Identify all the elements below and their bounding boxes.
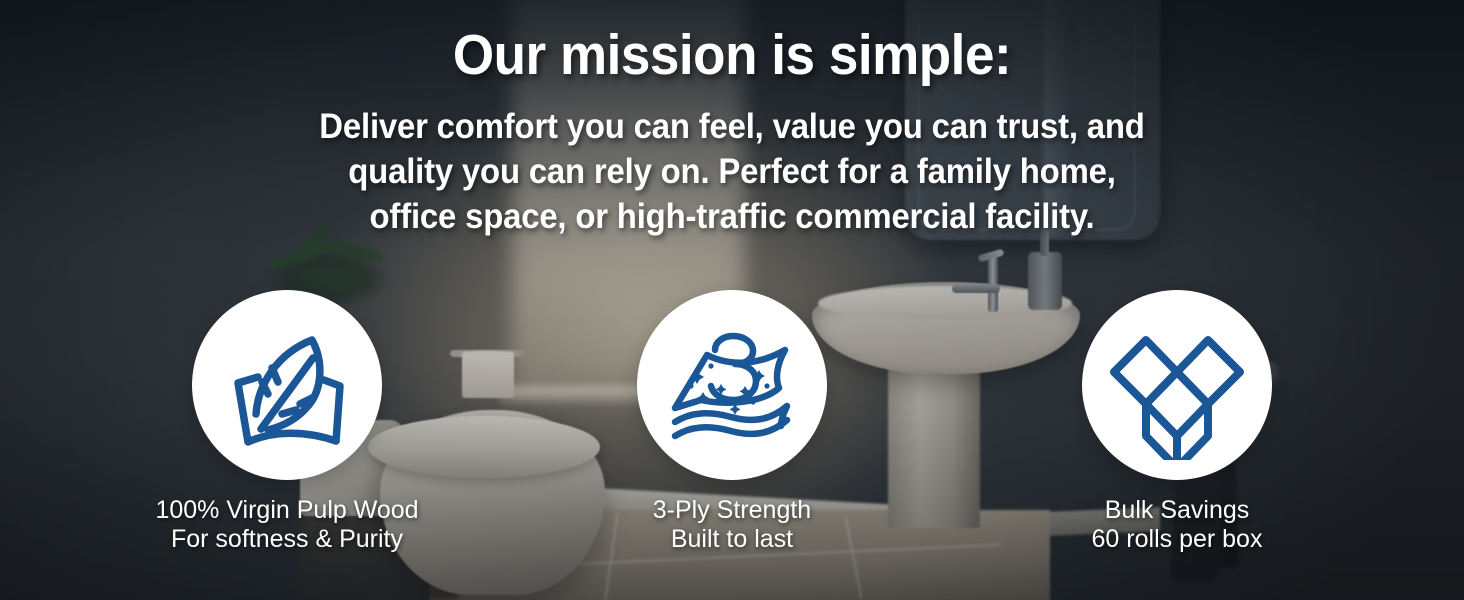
- feature-title: Bulk Savings: [1092, 496, 1263, 525]
- mission-statement: Deliver comfort you can feel, value you …: [44, 104, 1420, 239]
- feature-list: 100% Virgin Pulp Wood For softness & Pur…: [0, 290, 1464, 554]
- feature-title: 100% Virgin Pulp Wood: [155, 496, 418, 525]
- feature-caption: Bulk Savings 60 rolls per box: [1092, 496, 1263, 554]
- mission-line-1: Deliver comfort you can feel, value you …: [44, 104, 1420, 149]
- feather-on-tissue-icon: [212, 310, 362, 460]
- feature-icon-circle: [637, 290, 827, 480]
- feature-title: 3-Ply Strength: [653, 496, 811, 525]
- open-box-icon: [1102, 310, 1252, 460]
- mission-line-3: office space, or high-traffic commercial…: [44, 194, 1420, 239]
- feature-item-three-ply: 3-Ply Strength Built to last: [617, 290, 847, 554]
- feature-subtitle: Built to last: [653, 525, 811, 554]
- feature-item-virgin-pulp: 100% Virgin Pulp Wood For softness & Pur…: [172, 290, 402, 554]
- mission-line-2: quality you can rely on. Perfect for a f…: [44, 149, 1420, 194]
- feature-icon-circle: [1082, 290, 1272, 480]
- three-ply-sheets-icon: [657, 310, 807, 460]
- mission-banner: Our mission is simple: Deliver comfort y…: [0, 0, 1464, 600]
- feature-item-bulk-savings: Bulk Savings 60 rolls per box: [1062, 290, 1292, 554]
- page-title: Our mission is simple:: [51, 22, 1413, 88]
- feature-icon-circle: [192, 290, 382, 480]
- feature-caption: 3-Ply Strength Built to last: [653, 496, 811, 554]
- feature-subtitle: For softness & Purity: [155, 525, 418, 554]
- feature-caption: 100% Virgin Pulp Wood For softness & Pur…: [155, 496, 418, 554]
- feature-subtitle: 60 rolls per box: [1092, 525, 1263, 554]
